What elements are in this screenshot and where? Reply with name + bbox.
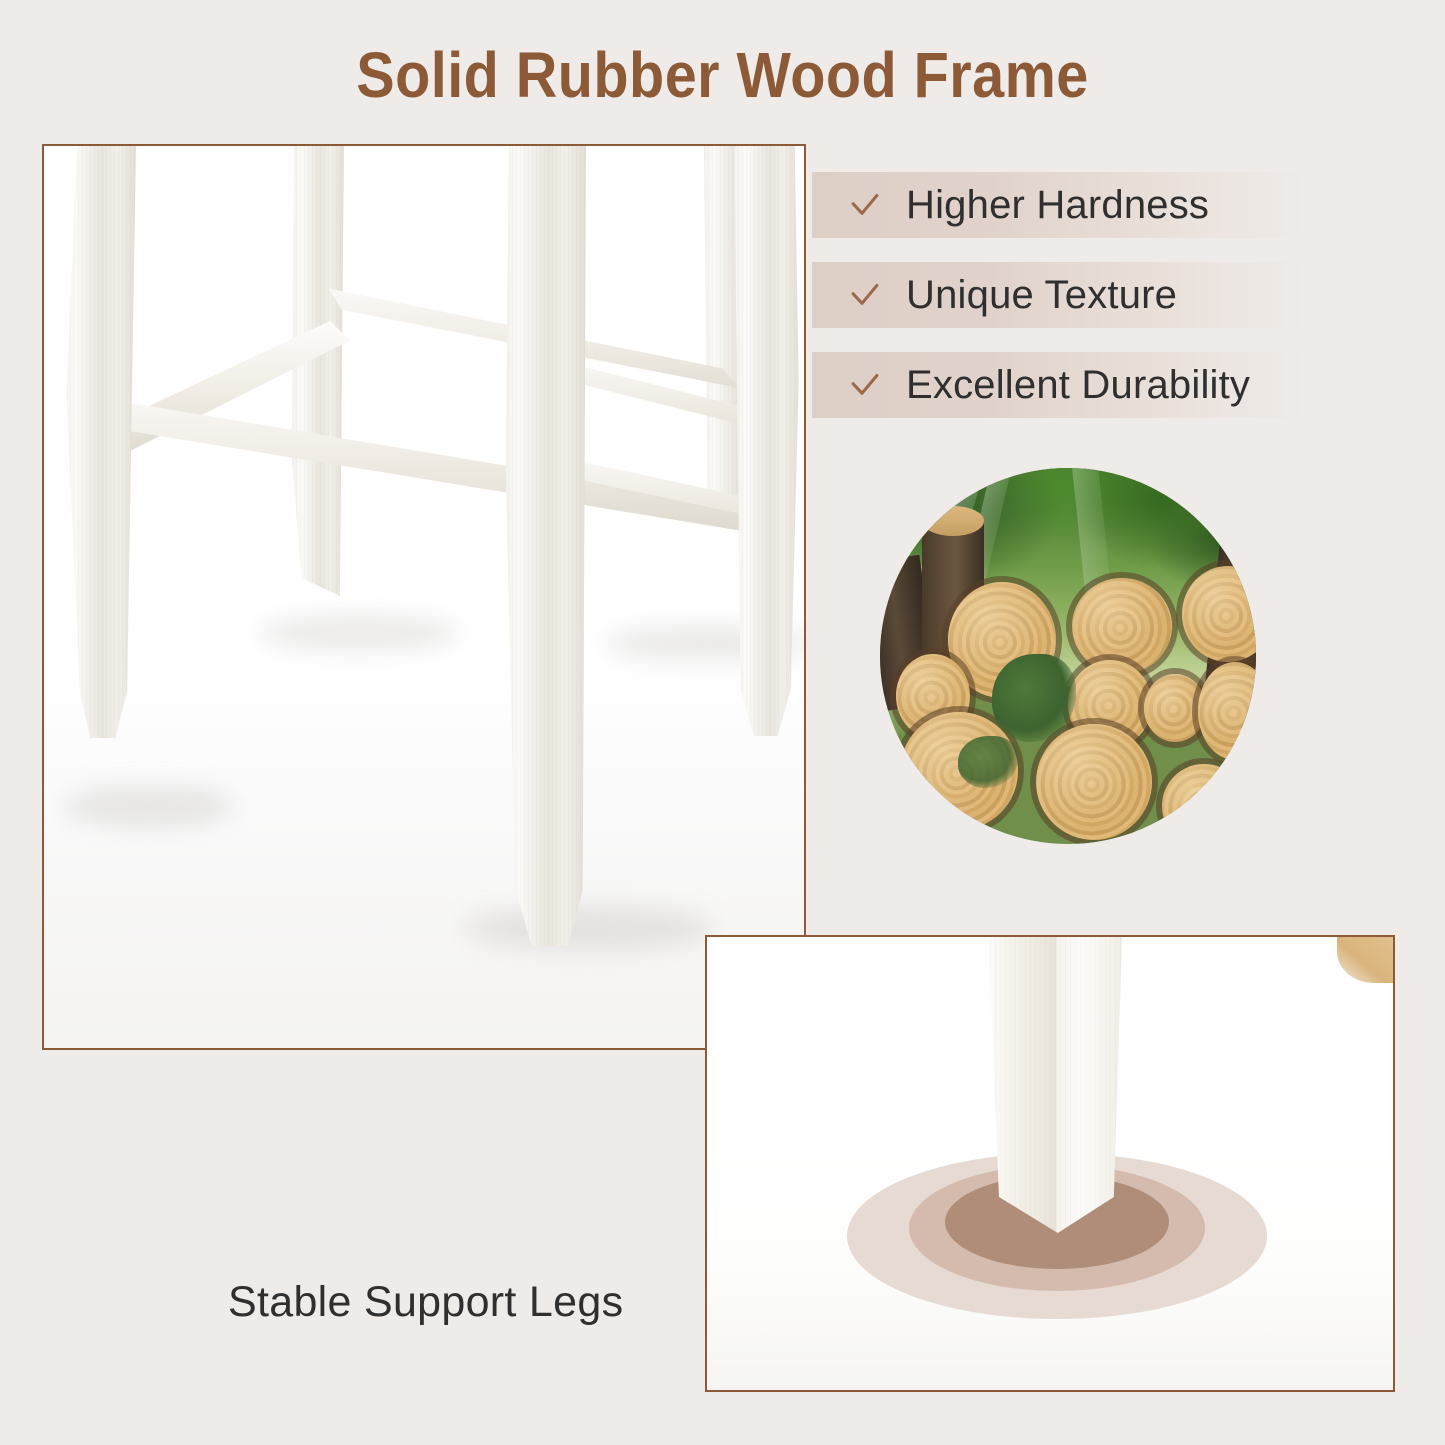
left-product-panel: [42, 144, 806, 1050]
bottom-right-detail-panel: [705, 935, 1395, 1392]
page-title: Solid Rubber Wood Frame: [72, 38, 1373, 112]
feature-label: Unique Texture: [906, 273, 1177, 318]
corner-log-sliver: [1337, 935, 1395, 983]
stool-leg-front-left: [62, 146, 136, 738]
stool-leg-far-right: [734, 146, 800, 736]
wood-logs-circle-photo: [880, 468, 1256, 844]
check-icon: [846, 186, 884, 224]
log-upright-top-face: [922, 506, 984, 536]
feature-label: Higher Hardness: [906, 183, 1209, 228]
stool-leg-front-center: [504, 146, 586, 946]
check-icon: [846, 276, 884, 314]
leg-shadow-front-left: [64, 786, 234, 826]
caption-stable-support-legs: Stable Support Legs: [228, 1278, 623, 1327]
stool-leg-closeup: [985, 935, 1125, 1233]
leg-shadow-back-left: [259, 616, 459, 650]
log-round: [1156, 758, 1252, 844]
feature-item-excellent-durability[interactable]: Excellent Durability: [812, 352, 1412, 418]
feature-list: Higher Hardness Unique Texture Excellent…: [812, 172, 1412, 418]
feature-label: Excellent Durability: [906, 363, 1250, 408]
leg-shadow-front-right: [464, 906, 714, 950]
feature-item-unique-texture[interactable]: Unique Texture: [812, 262, 1412, 328]
check-icon: [846, 366, 884, 404]
infographic-page: Solid Rubber Wood Frame: [0, 0, 1445, 1445]
stool-leg-back-left: [292, 146, 344, 596]
feature-item-higher-hardness[interactable]: Higher Hardness: [812, 172, 1412, 238]
floor-gradient: [44, 651, 804, 1048]
